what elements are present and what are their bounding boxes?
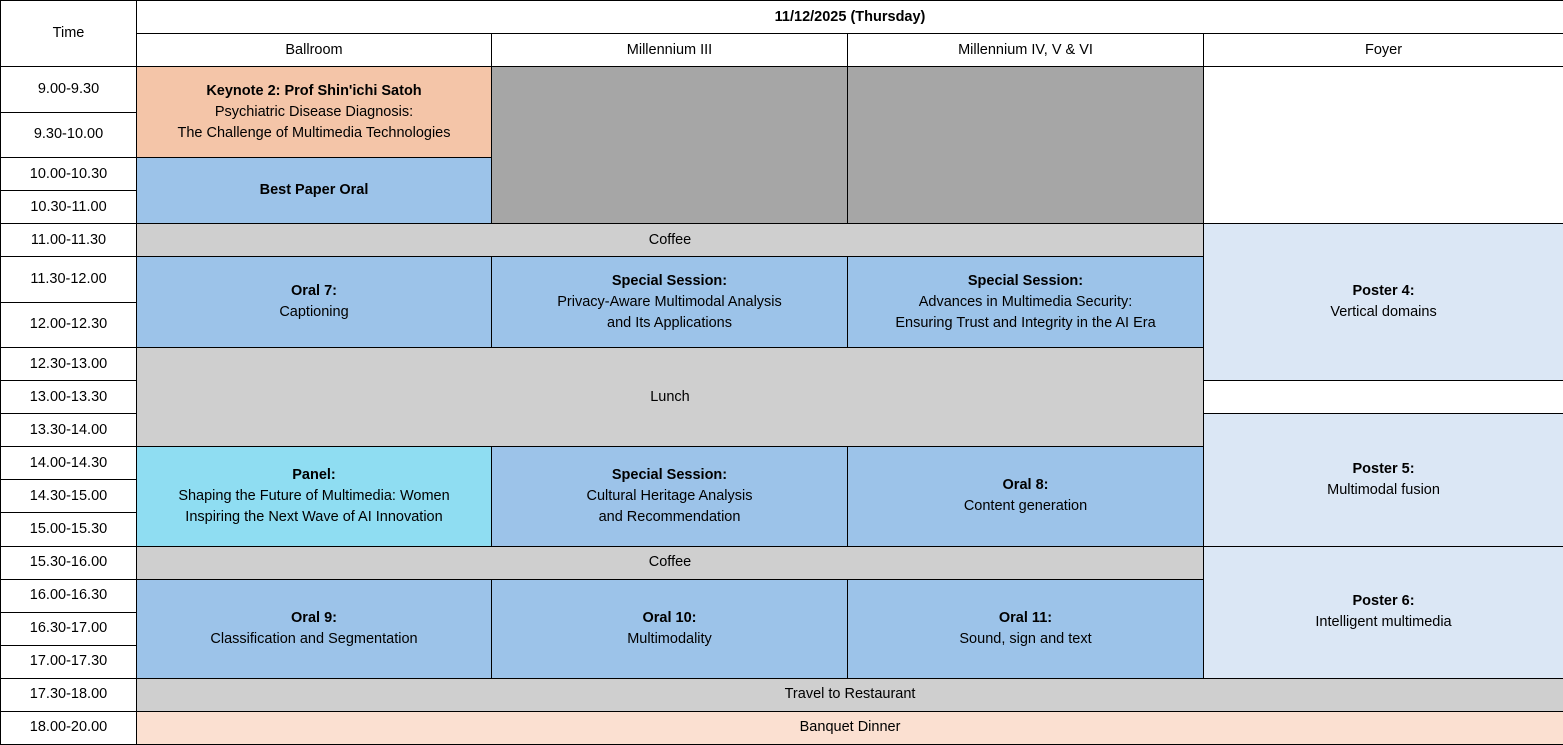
- time-slot: 14.30-15.00: [1, 480, 137, 513]
- session-subtitle-line1: Advances in Multimedia Security:: [851, 292, 1200, 313]
- table-row: 15.30-16.00 Coffee Poster 6: Intelligent…: [1, 546, 1563, 579]
- session-subtitle-line2: Ensuring Trust and Integrity in the AI E…: [851, 313, 1200, 334]
- session-title: Oral 11:: [851, 608, 1200, 629]
- session-title: Keynote 2: Prof Shin'ichi Satoh: [140, 81, 488, 102]
- time-slot: 18.00-20.00: [1, 711, 137, 744]
- table-row: 18.00-20.00 Banquet Dinner: [1, 711, 1563, 744]
- session-title: Lunch: [140, 387, 1200, 408]
- session-subtitle-line1: Sound, sign and text: [851, 629, 1200, 650]
- foyer-empty-morning: [1204, 67, 1563, 224]
- empty-cell-millennium-iii-morning: [492, 67, 848, 224]
- time-slot: 14.00-14.30: [1, 447, 137, 480]
- time-slot: 12.00-12.30: [1, 302, 137, 347]
- session-subtitle-line1: Cultural Heritage Analysis: [495, 486, 844, 507]
- time-slot: 13.00-13.30: [1, 381, 137, 414]
- session-subtitle-line2: and Recommendation: [495, 507, 844, 528]
- header-row-date: Time 11/12/2025 (Thursday): [1, 1, 1563, 34]
- room-header-millennium-iv-v-vi: Millennium IV, V & VI: [848, 34, 1204, 67]
- session-oral-10[interactable]: Oral 10: Multimodality: [492, 579, 848, 678]
- room-header-millennium-iii: Millennium III: [492, 34, 848, 67]
- session-title: Banquet Dinner: [140, 717, 1560, 738]
- session-subtitle-line1: Privacy-Aware Multimodal Analysis: [495, 292, 844, 313]
- time-slot: 11.00-11.30: [1, 224, 137, 257]
- time-slot: 12.30-13.00: [1, 348, 137, 381]
- table-row: 11.00-11.30 Coffee Poster 4: Vertical do…: [1, 224, 1563, 257]
- room-header-foyer: Foyer: [1204, 34, 1563, 67]
- session-oral-11[interactable]: Oral 11: Sound, sign and text: [848, 579, 1204, 678]
- session-subtitle-line1: Intelligent multimedia: [1207, 612, 1560, 633]
- session-title: Poster 4:: [1207, 281, 1560, 302]
- session-title: Panel:: [140, 465, 488, 486]
- header-row-rooms: Ballroom Millennium III Millennium IV, V…: [1, 34, 1563, 67]
- session-title: Travel to Restaurant: [140, 684, 1560, 705]
- time-slot: 11.30-12.00: [1, 257, 137, 302]
- table-row: 17.30-18.00 Travel to Restaurant: [1, 678, 1563, 711]
- session-subtitle-line1: Captioning: [140, 302, 488, 323]
- session-title: Coffee: [140, 230, 1200, 251]
- session-subtitle-line1: Psychiatric Disease Diagnosis:: [140, 102, 488, 123]
- time-column-header: Time: [1, 1, 137, 67]
- table-row: 9.00-9.30 Keynote 2: Prof Shin'ichi Sato…: [1, 67, 1563, 112]
- session-oral-7[interactable]: Oral 7: Captioning: [137, 257, 492, 348]
- session-panel[interactable]: Panel: Shaping the Future of Multimedia:…: [137, 447, 492, 546]
- session-title: Best Paper Oral: [140, 180, 488, 201]
- time-slot: 16.00-16.30: [1, 579, 137, 612]
- time-slot: 17.00-17.30: [1, 645, 137, 678]
- time-slot: 9.00-9.30: [1, 67, 137, 112]
- room-header-ballroom: Ballroom: [137, 34, 492, 67]
- session-title: Oral 9:: [140, 608, 488, 629]
- session-title: Coffee: [140, 552, 1200, 573]
- time-slot: 13.30-14.00: [1, 414, 137, 447]
- session-poster-4[interactable]: Poster 4: Vertical domains: [1204, 224, 1563, 381]
- session-subtitle-line2: and Its Applications: [495, 313, 844, 334]
- session-subtitle-line1: Vertical domains: [1207, 302, 1560, 323]
- session-poster-6[interactable]: Poster 6: Intelligent multimedia: [1204, 546, 1563, 678]
- session-title: Oral 10:: [495, 608, 844, 629]
- session-lunch: Lunch: [137, 348, 1204, 447]
- session-oral-8[interactable]: Oral 8: Content generation: [848, 447, 1204, 546]
- session-title: Special Session:: [851, 271, 1200, 292]
- time-slot: 17.30-18.00: [1, 678, 137, 711]
- session-oral-9[interactable]: Oral 9: Classification and Segmentation: [137, 579, 492, 678]
- date-header: 11/12/2025 (Thursday): [137, 1, 1563, 34]
- session-subtitle-line1: Content generation: [851, 496, 1200, 517]
- time-slot: 10.30-11.00: [1, 191, 137, 224]
- session-subtitle-line2: Inspiring the Next Wave of AI Innovation: [140, 507, 488, 528]
- empty-cell-millennium-iv-morning: [848, 67, 1204, 224]
- session-best-paper-oral[interactable]: Best Paper Oral: [137, 158, 492, 224]
- session-coffee-morning: Coffee: [137, 224, 1204, 257]
- time-slot: 9.30-10.00: [1, 112, 137, 157]
- session-title: Special Session:: [495, 271, 844, 292]
- session-special-privacy-aware[interactable]: Special Session: Privacy-Aware Multimoda…: [492, 257, 848, 348]
- session-subtitle-line1: Multimodal fusion: [1207, 480, 1560, 501]
- time-slot: 15.30-16.00: [1, 546, 137, 579]
- session-coffee-afternoon: Coffee: [137, 546, 1204, 579]
- session-title: Oral 7:: [140, 281, 488, 302]
- session-special-multimedia-security[interactable]: Special Session: Advances in Multimedia …: [848, 257, 1204, 348]
- time-slot: 10.00-10.30: [1, 158, 137, 191]
- session-subtitle-line1: Classification and Segmentation: [140, 629, 488, 650]
- session-travel-to-restaurant: Travel to Restaurant: [137, 678, 1563, 711]
- session-subtitle-line1: Shaping the Future of Multimedia: Women: [140, 486, 488, 507]
- session-subtitle-line2: The Challenge of Multimedia Technologies: [140, 123, 488, 144]
- session-keynote-2[interactable]: Keynote 2: Prof Shin'ichi Satoh Psychiat…: [137, 67, 492, 158]
- session-subtitle-line1: Multimodality: [495, 629, 844, 650]
- session-title: Oral 8:: [851, 475, 1200, 496]
- session-poster-5[interactable]: Poster 5: Multimodal fusion: [1204, 414, 1563, 546]
- time-slot: 16.30-17.00: [1, 612, 137, 645]
- time-slot: 15.00-15.30: [1, 513, 137, 546]
- session-special-cultural-heritage[interactable]: Special Session: Cultural Heritage Analy…: [492, 447, 848, 546]
- session-title: Poster 5:: [1207, 459, 1560, 480]
- session-banquet-dinner: Banquet Dinner: [137, 711, 1563, 744]
- session-title: Poster 6:: [1207, 591, 1560, 612]
- conference-schedule-table: Time 11/12/2025 (Thursday) Ballroom Mill…: [0, 0, 1563, 745]
- session-title: Special Session:: [495, 465, 844, 486]
